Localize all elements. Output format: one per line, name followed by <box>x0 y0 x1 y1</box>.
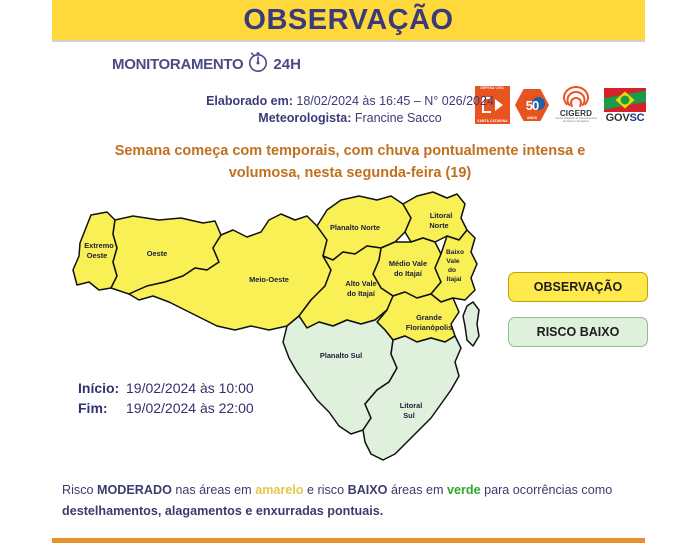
santa-catarina-risk-map: Extremo Oeste Oeste Meio-Oeste Planalto … <box>55 190 505 465</box>
map-label-litoral-sul-2: Sul <box>403 411 415 420</box>
map-label-grande-floripa-1: Grande <box>416 313 442 322</box>
map-region-florianopolis-island[interactable] <box>463 302 479 346</box>
observation-banner: OBSERVAÇÃO <box>52 0 645 40</box>
footer-baixo: BAIXO <box>348 483 388 497</box>
map-label-extremo-oeste-1: Extremo <box>84 241 114 250</box>
bottom-divider <box>52 538 645 543</box>
footer-verde: verde <box>447 483 481 497</box>
monitoramento-label: MONITORAMENTO <box>112 56 243 73</box>
footer-amarelo: amarelo <box>255 483 303 497</box>
risk-legend: OBSERVAÇÃO RISCO BAIXO <box>508 272 648 347</box>
legend-item-risco-baixo[interactable]: RISCO BAIXO <box>508 317 648 347</box>
period-inicio-label: Início: <box>78 378 126 398</box>
map-label-litoral-sul-1: Litoral <box>400 401 423 410</box>
brand-row: MONITORAMENTO 24H DEFESA CIVIL SANTA CAT… <box>0 42 700 88</box>
period-fim-row: Fim: 19/02/2024 às 22:00 <box>78 398 254 418</box>
monitoramento-hours-label: 24H <box>273 56 301 73</box>
page-title: OBSERVAÇÃO <box>52 0 645 40</box>
map-label-baixo-vale-3: do <box>448 267 456 274</box>
risk-description: Risco MODERADO nas áreas em amarelo e ri… <box>62 480 642 522</box>
footer-text-5: para ocorrências <box>481 483 578 497</box>
headline-line-1: Semana começa com temporais, com chuva p… <box>90 140 610 162</box>
map-label-baixo-vale-2: Vale <box>446 258 460 265</box>
period-inicio-row: Início: 19/02/2024 às 10:00 <box>78 378 254 398</box>
map-label-oeste: Oeste <box>147 249 168 258</box>
footer-text-1: Risco <box>62 483 97 497</box>
map-label-extremo-oeste-2: Oeste <box>87 251 108 260</box>
map-label-medio-vale-1: Médio Vale <box>389 259 427 268</box>
footer-occurrences: destelhamentos, alagamentos e enxurradas… <box>62 504 383 518</box>
map-label-litoral-norte-1: Litoral <box>430 211 453 220</box>
monitoramento-24h-logo: MONITORAMENTO 24H <box>112 50 301 79</box>
map-label-planalto-norte: Planalto Norte <box>330 223 380 232</box>
headline: Semana começa com temporais, com chuva p… <box>90 140 610 184</box>
footer-moderado: MODERADO <box>97 483 172 497</box>
footer-text-2: nas áreas em <box>172 483 255 497</box>
map-label-litoral-norte-2: Norte <box>429 221 448 230</box>
footer-text-6: como <box>581 483 612 497</box>
map-label-grande-floripa-2: Florianópolis <box>406 323 452 332</box>
elaborado-value: 18/02/2024 às 16:45 – N° 026/2024 <box>296 94 494 108</box>
meteorologista-label: Meteorologista: <box>258 111 351 125</box>
headline-line-2: volumosa, nesta segunda-feira (19) <box>90 162 610 184</box>
meteorologista-line: Meteorologista: Francine Sacco <box>0 110 700 127</box>
map-label-medio-vale-2: do Itajaí <box>394 269 423 278</box>
legend-item-observacao[interactable]: OBSERVAÇÃO <box>508 272 648 302</box>
period-inicio-value: 19/02/2024 às 10:00 <box>126 378 254 398</box>
map-label-meio-oeste: Meio-Oeste <box>249 275 289 284</box>
map-label-baixo-vale-1: Baixo <box>446 249 464 256</box>
period-fim-label: Fim: <box>78 398 126 418</box>
elaborado-line: Elaborado em: 18/02/2024 às 16:45 – N° 0… <box>0 93 700 110</box>
footer-text-4: áreas em <box>387 483 447 497</box>
map-label-alto-vale-1: Alto Vale <box>345 279 376 288</box>
meteorologista-value: Francine Sacco <box>355 111 442 125</box>
stopwatch-icon <box>246 50 270 79</box>
map-label-baixo-vale-4: Itajaí <box>446 276 462 283</box>
elaborado-label: Elaborado em: <box>206 94 293 108</box>
period-fim-value: 19/02/2024 às 22:00 <box>126 398 254 418</box>
map-label-alto-vale-2: do Itajaí <box>347 289 376 298</box>
footer-text-3: e risco <box>304 483 348 497</box>
map-label-planalto-sul: Planalto Sul <box>320 351 362 360</box>
event-period: Início: 19/02/2024 às 10:00 Fim: 19/02/2… <box>78 378 254 418</box>
bulletin-metadata: Elaborado em: 18/02/2024 às 16:45 – N° 0… <box>0 93 700 127</box>
defesa-civil-top-label: DEFESA CIVIL <box>480 87 504 90</box>
